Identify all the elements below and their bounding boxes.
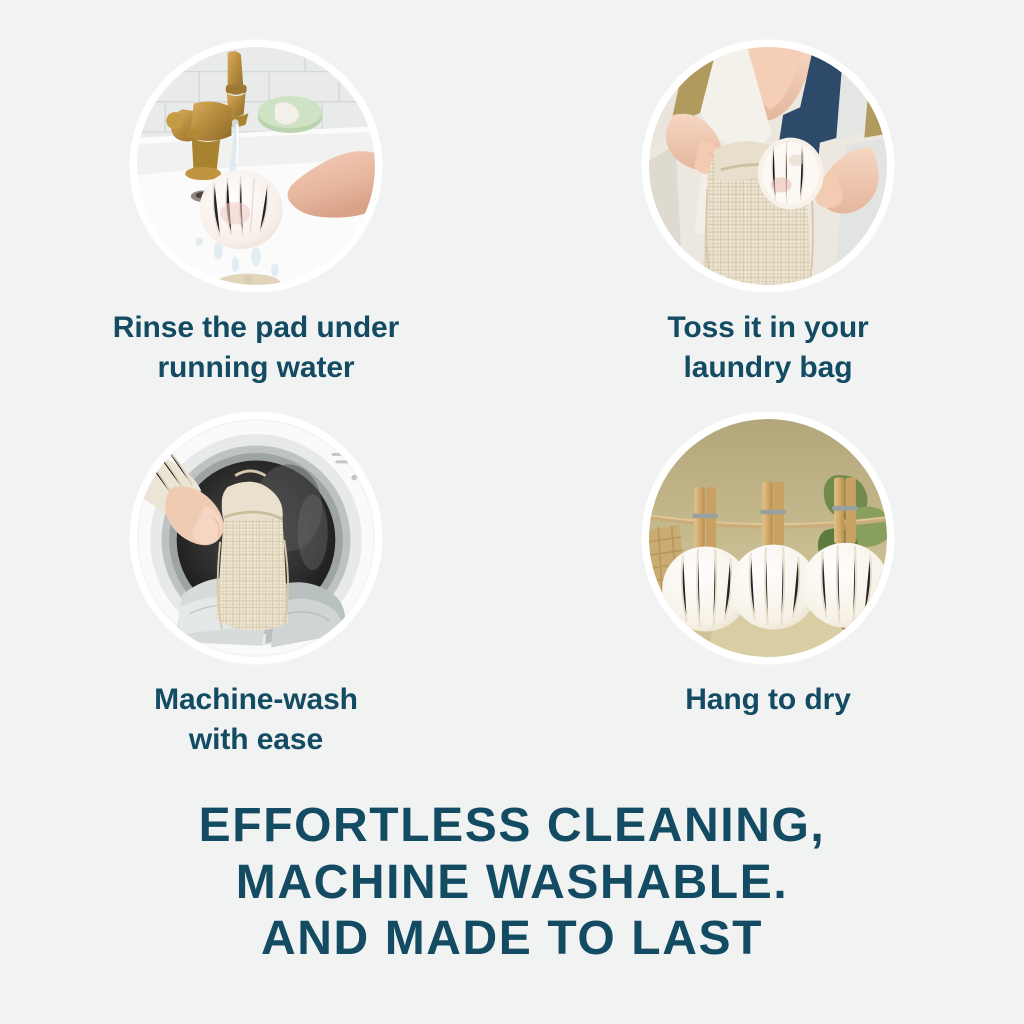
- step-machine-wash-photo: [130, 412, 382, 664]
- machine-wash-illustration: [137, 419, 375, 657]
- rinse-illustration: [137, 47, 375, 285]
- rinse-pad-image: [137, 47, 375, 285]
- headline-line-2: MACHINE WASHABLE.: [0, 855, 1024, 912]
- steps-grid: Rinse the pad under running water: [0, 0, 1024, 780]
- caption-line-2: with ease: [189, 723, 323, 756]
- step-hang-dry-photo: [642, 412, 894, 664]
- hang-dry-illustration: [649, 419, 887, 657]
- step-machine-wash: Machine-wash with ease: [0, 372, 512, 744]
- caption-line-1: Machine-wash: [154, 683, 358, 716]
- caption-line-1: Hang to dry: [685, 683, 851, 716]
- headline-line-1: EFFORTLESS CLEANING,: [0, 798, 1024, 855]
- step-hang-dry-caption: Hang to dry: [558, 680, 978, 720]
- caption-line-1: Rinse the pad under: [113, 311, 399, 344]
- hang-dry-image: [649, 419, 887, 657]
- step-rinse: Rinse the pad under running water: [0, 0, 512, 372]
- caption-line-1: Toss it in your: [667, 311, 868, 344]
- washing-machine-image: [137, 419, 375, 657]
- step-toss-photo: [642, 40, 894, 292]
- step-machine-wash-caption: Machine-wash with ease: [46, 680, 466, 760]
- headline-line-3: AND MADE TO LAST: [0, 911, 1024, 968]
- step-rinse-photo: [130, 40, 382, 292]
- laundry-bag-image: [649, 47, 887, 285]
- headline: EFFORTLESS CLEANING, MACHINE WASHABLE. A…: [0, 798, 1024, 968]
- step-toss: Toss it in your laundry bag: [512, 0, 1024, 372]
- toss-illustration: [649, 47, 887, 285]
- step-hang-dry: Hang to dry: [512, 372, 1024, 744]
- product-infographic: Rinse the pad under running water: [0, 0, 1024, 1024]
